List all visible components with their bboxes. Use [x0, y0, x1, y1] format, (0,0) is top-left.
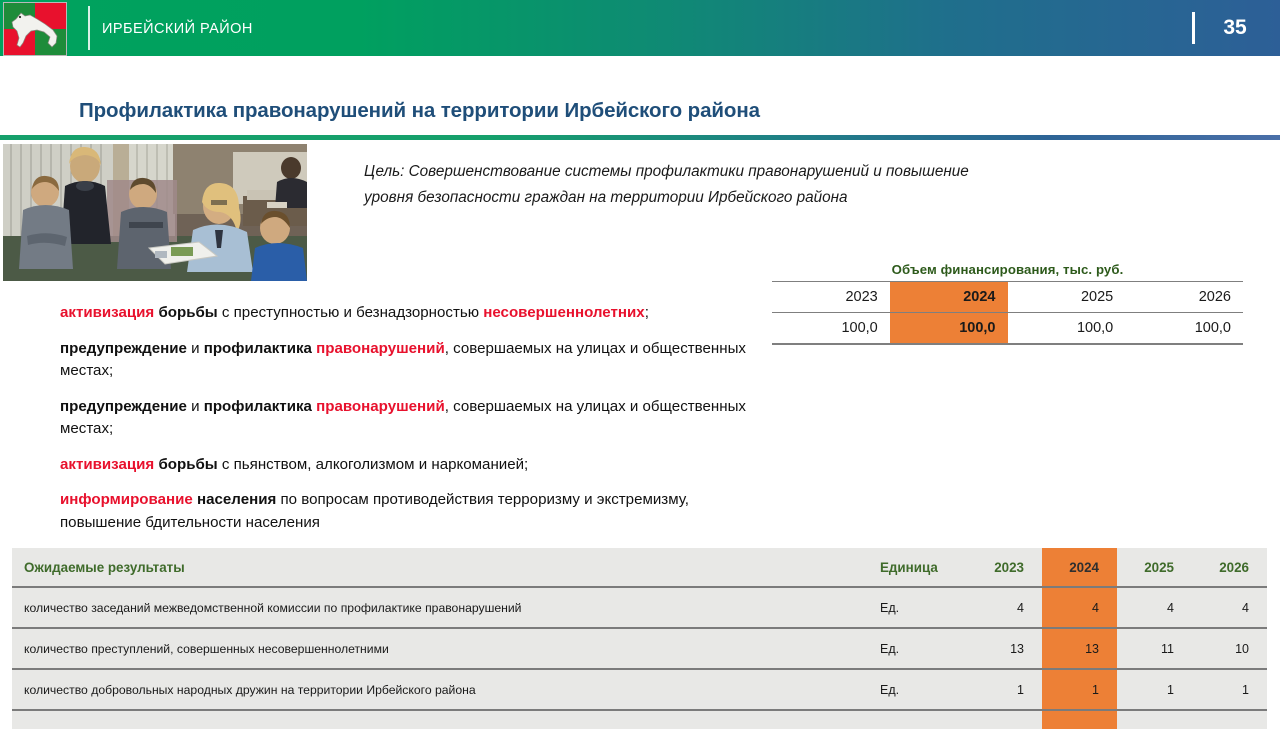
financing-year-2026: 2026	[1125, 282, 1243, 313]
page-title: Профилактика правонарушений на территори…	[79, 99, 760, 123]
results-table: Ожидаемые результаты Единица 2023 2024 2…	[12, 548, 1267, 729]
result-unit: Ед.	[872, 628, 967, 669]
measure-fragment: активизация	[60, 456, 158, 473]
goal-text: Цель: Совершенствование системы профилак…	[364, 159, 989, 210]
measure-fragment: предупреждение	[60, 398, 191, 415]
measure-fragment: борьбы	[158, 304, 221, 321]
measure-fragment: правонарушений	[316, 398, 445, 415]
measure-fragment: информирование	[60, 491, 197, 508]
results-header-2023: 2023	[967, 548, 1042, 587]
result-2026: 1	[1192, 669, 1267, 710]
measure-fragment: борьбы	[158, 456, 221, 473]
measure-fragment: и	[191, 340, 204, 357]
result-2023: 1	[967, 669, 1042, 710]
results-header-unit: Единица	[872, 548, 967, 587]
financing-block: Объем финансирования, тыс. руб. 2023 202…	[772, 262, 1243, 345]
financing-values-row: 100,0 100,0 100,0 100,0	[772, 313, 1243, 345]
result-2025: 11	[1117, 628, 1192, 669]
measure-fragment: активизация	[60, 304, 158, 321]
slide-root: ИРБЕЙСКИЙ РАЙОН 35 Профилактика правонар…	[0, 0, 1280, 720]
result-name: количество заседаний межведомственной ко…	[12, 587, 872, 628]
result-2026: 10	[1192, 628, 1267, 669]
financing-years-row: 2023 2024 2025 2026	[772, 282, 1243, 313]
table-row: количество добровольных народных дружин …	[12, 669, 1267, 710]
financing-value-2024: 100,0	[890, 313, 1008, 345]
table-row: количество преступлений, совершенных нес…	[12, 628, 1267, 669]
measure-fragment: несовершеннолетних	[483, 304, 644, 321]
measure-fragment: с пьянством, алкоголизмом и наркоманией;	[222, 456, 528, 473]
result-2025: 4	[1117, 587, 1192, 628]
financing-year-2025: 2025	[1008, 282, 1126, 313]
result-name: количество добровольных народных дружин …	[12, 669, 872, 710]
financing-value-2023: 100,0	[772, 313, 890, 345]
coat-of-arms-icon	[3, 2, 67, 56]
result-2024: 4	[1042, 587, 1117, 628]
measure-item: предупреждение и профилактика правонаруш…	[60, 338, 750, 383]
page-number-divider	[1192, 12, 1195, 44]
measure-item: информирование населения по вопросам про…	[60, 489, 750, 534]
measure-item: предупреждение и профилактика правонаруш…	[60, 396, 750, 441]
financing-title: Объем финансирования, тыс. руб.	[772, 262, 1243, 281]
page-number: 35	[1212, 16, 1258, 40]
result-2023: 13	[967, 628, 1042, 669]
results-header-name: Ожидаемые результаты	[12, 548, 872, 587]
result-unit: Ед.	[872, 669, 967, 710]
measure-fragment: профилактика	[204, 398, 316, 415]
results-header-row: Ожидаемые результаты Единица 2023 2024 2…	[12, 548, 1267, 587]
measure-fragment: и	[191, 398, 204, 415]
results-header-2024: 2024	[1042, 548, 1117, 587]
financing-year-2024: 2024	[890, 282, 1008, 313]
header-divider	[88, 6, 90, 50]
measure-fragment: предупреждение	[60, 340, 191, 357]
result-2024: 1	[1042, 669, 1117, 710]
measure-fragment: профилактика	[204, 340, 316, 357]
financing-value-2026: 100,0	[1125, 313, 1243, 345]
financing-year-2023: 2023	[772, 282, 890, 313]
measure-fragment: с преступностью и безнадзорностью	[222, 304, 483, 321]
results-table-block: Ожидаемые результаты Единица 2023 2024 2…	[12, 548, 1267, 729]
result-2023: 4	[967, 587, 1042, 628]
measure-fragment: ;	[645, 304, 649, 321]
district-label: ИРБЕЙСКИЙ РАЙОН	[102, 21, 253, 37]
results-header-2025: 2025	[1117, 548, 1192, 587]
slide-header: ИРБЕЙСКИЙ РАЙОН 35	[0, 0, 1280, 56]
result-2026: 4	[1192, 587, 1267, 628]
measure-fragment: правонарушений	[316, 340, 445, 357]
financing-value-2025: 100,0	[1008, 313, 1126, 345]
financing-table: 2023 2024 2025 2026 100,0 100,0 100,0 10…	[772, 281, 1243, 345]
result-2025: 1	[1117, 669, 1192, 710]
results-header-2026: 2026	[1192, 548, 1267, 587]
title-underline-rule	[0, 135, 1280, 140]
result-2024: 13	[1042, 628, 1117, 669]
sable-figure-icon	[4, 3, 66, 55]
measure-fragment: населения	[197, 491, 280, 508]
result-name: количество преступлений, совершенных нес…	[12, 628, 872, 669]
photo-police-with-teens	[3, 144, 307, 281]
measures-list: активизация борьбы с преступностью и без…	[60, 302, 750, 547]
measure-item: активизация борьбы с преступностью и без…	[60, 302, 750, 325]
measure-item: активизация борьбы с пьянством, алкоголи…	[60, 454, 750, 477]
table-row: количество заседаний межведомственной ко…	[12, 587, 1267, 628]
result-unit: Ед.	[872, 587, 967, 628]
